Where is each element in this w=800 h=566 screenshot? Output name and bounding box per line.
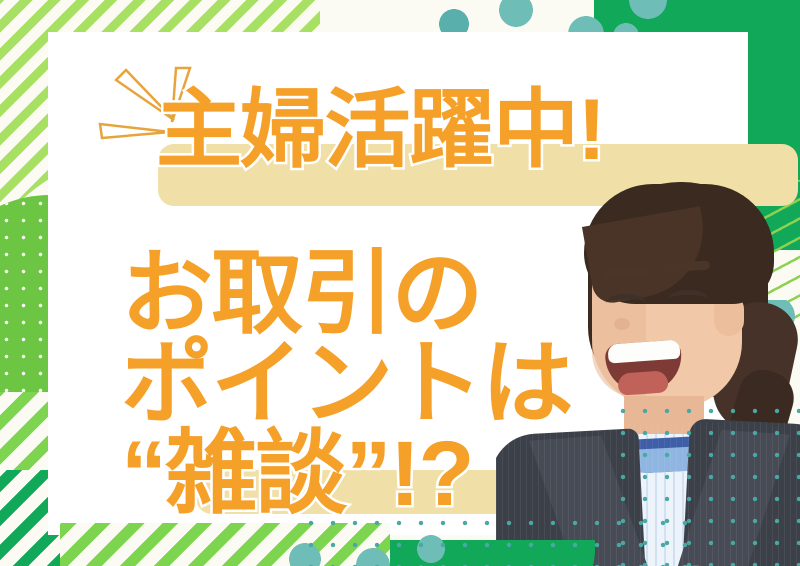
subheadline-line-3-text: “雑談”!?: [121, 423, 473, 525]
headline-text: 主婦活躍中!: [156, 82, 604, 178]
woman-photo: [496, 182, 800, 566]
poster-root: 主婦活躍中! 主婦活躍中! 主婦活躍中! お取引の お取引の お取引の ポイント…: [0, 0, 800, 566]
content-card: 主婦活躍中! 主婦活躍中! 主婦活躍中! お取引の お取引の お取引の ポイント…: [48, 32, 748, 535]
subheadline-line-1-text: お取引の: [121, 243, 482, 345]
eye-right: [668, 290, 708, 308]
subheadline-line-3: “雑談”!? “雑談”!? “雑談”!?: [121, 428, 473, 520]
nose: [614, 318, 630, 330]
headline: 主婦活躍中! 主婦活躍中! 主婦活躍中!: [156, 87, 604, 173]
jacket-texture: [496, 422, 800, 566]
tongue: [617, 370, 668, 395]
eye-left: [606, 294, 646, 312]
subheadline-line-1: お取引の お取引の お取引の: [121, 248, 482, 340]
